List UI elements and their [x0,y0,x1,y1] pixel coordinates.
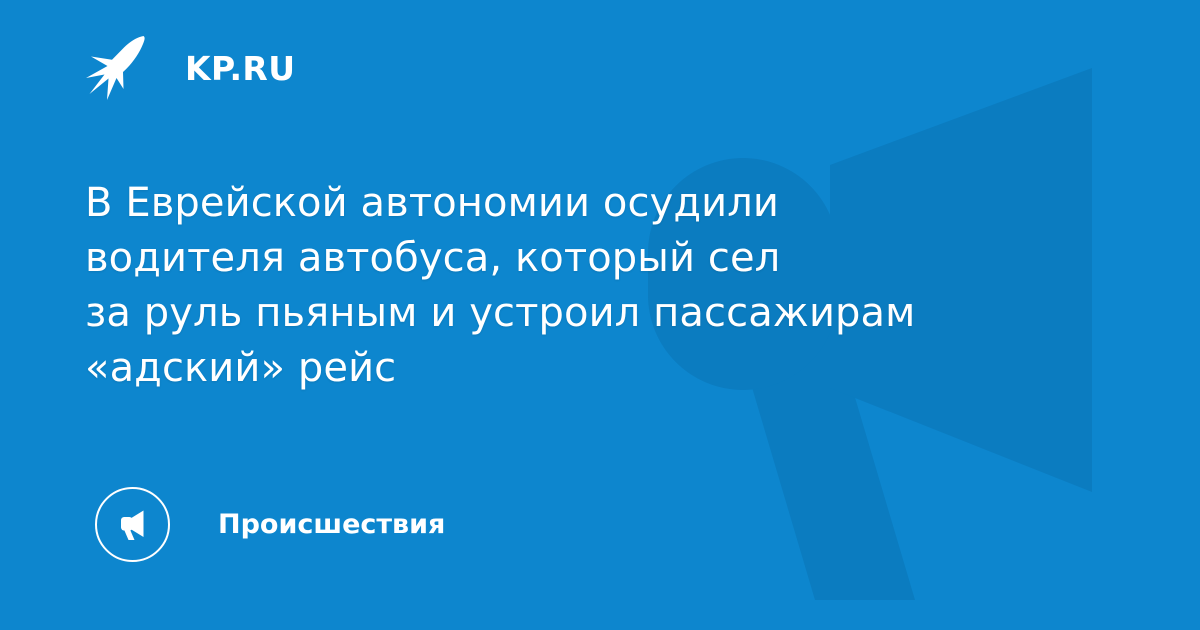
brand-name: KP.RU [185,52,295,85]
headline-line: водителя автобуса, который сел [85,231,1085,286]
headline-line: за руль пьяным и устроил пассажирам [85,286,1085,341]
headline-line: «адский» рейс [85,341,1085,396]
news-share-card: KP.RU В Еврейской автономии осудили води… [0,0,1200,630]
headline-line: В Еврейской автономии осудили [85,176,1085,231]
megaphone-icon [113,504,153,544]
brand-header[interactable]: KP.RU [85,30,295,106]
swallow-bird-logo-icon [85,34,147,102]
category-icon-circle [95,487,170,562]
category-badge-group[interactable]: Происшествия [95,486,445,562]
category-label: Происшествия [218,511,445,538]
page-title: В Еврейской автономии осудили водителя а… [85,176,1085,396]
